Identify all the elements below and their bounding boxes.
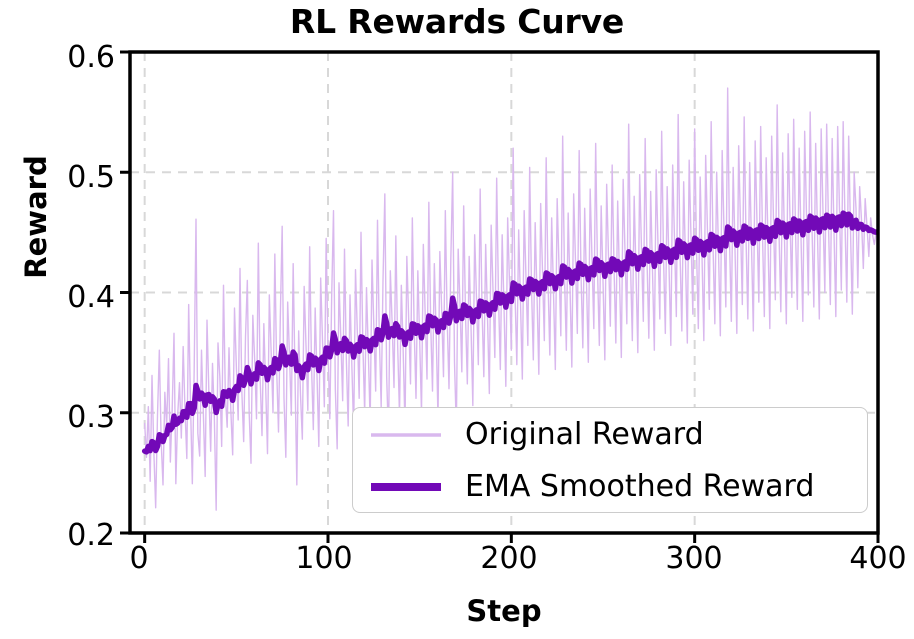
- plot-area: [0, 0, 914, 639]
- chart-figure: RL Rewards Curve Reward Step 0.6 0.5 0.4…: [0, 0, 914, 639]
- legend[interactable]: Original Reward EMA Smoothed Reward: [352, 407, 868, 513]
- legend-item-original[interactable]: Original Reward: [353, 408, 867, 461]
- legend-swatch-original-icon: [369, 430, 443, 440]
- legend-swatch-ema-icon: [369, 481, 443, 493]
- legend-label-original: Original Reward: [465, 417, 704, 452]
- legend-label-ema: EMA Smoothed Reward: [465, 469, 814, 504]
- legend-item-ema[interactable]: EMA Smoothed Reward: [353, 460, 867, 513]
